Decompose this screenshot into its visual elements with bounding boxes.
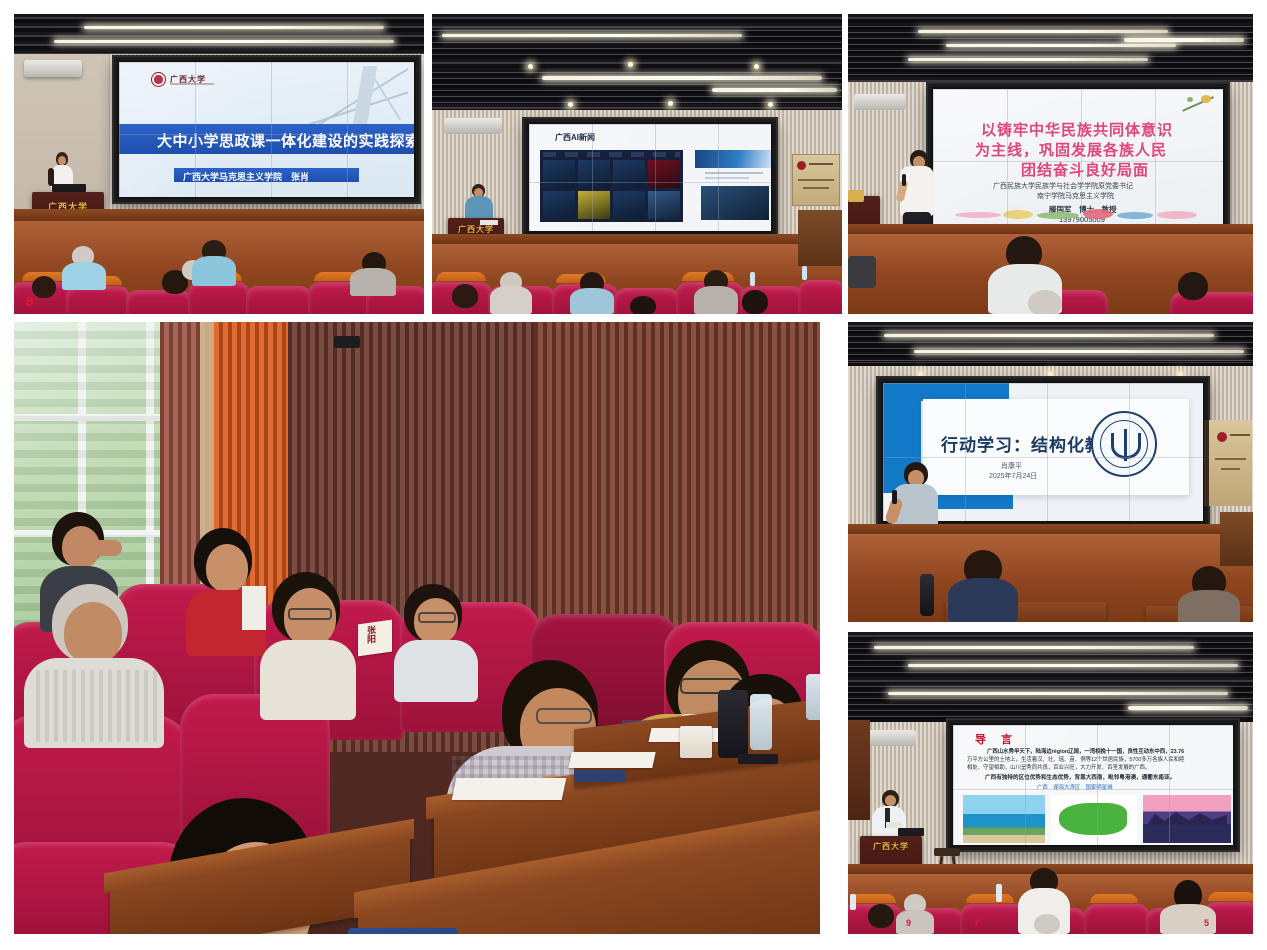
slide6-body-4: 广西有独特的区位优势和生态优势，背靠大西南，毗邻粤港澳，通衢东南亚。 bbox=[985, 773, 1175, 781]
photo-guangxi-intro-slide: 导 言 广西山水秀甲天下，陆海边région辽阔，一湾相挽十一国，良性互动东中西… bbox=[848, 632, 1253, 934]
wall-plaque bbox=[1204, 420, 1252, 506]
air-conditioner bbox=[444, 118, 502, 134]
slide1-title: 大中小学思政课一体化建设的实践探索 bbox=[157, 130, 414, 151]
led-video-wall: 广西大学 大中小学思政课一体化建设的实践探索 广西大学马克思主义学院 张肖 bbox=[114, 57, 419, 202]
institute-seal-logo-icon bbox=[1091, 411, 1157, 477]
water-bottle bbox=[802, 266, 807, 280]
slide6-body-1: 广西山水秀甲天下，陆海边région辽阔，一湾相挽十一国，良性互动东中西，23.… bbox=[987, 747, 1184, 755]
name-card bbox=[886, 822, 902, 828]
pen bbox=[738, 754, 778, 764]
slide6-body-3: 相处、守望相助，山川呈秀而共良，百业兴旺，大力开发、百坚发展的广西。 bbox=[967, 763, 1150, 771]
led-video-wall: 以铸牢中华民族共同体意识 为主线，巩固发展各族人民 团结奋斗良好局面 广西民族大… bbox=[928, 84, 1228, 229]
laptop bbox=[898, 828, 924, 836]
water-bottle bbox=[850, 894, 856, 910]
seat-number: 8 bbox=[26, 294, 33, 309]
ceiling-speaker bbox=[334, 336, 360, 348]
audience-head bbox=[1028, 290, 1062, 314]
slide3-title-line1: 以铸牢中华民族共同体意识 bbox=[981, 119, 1173, 140]
thermos bbox=[718, 690, 748, 758]
wall-plaque bbox=[792, 154, 840, 206]
slide2-banner bbox=[695, 150, 771, 168]
name-card bbox=[480, 220, 498, 225]
eyeglasses bbox=[418, 612, 456, 623]
air-conditioner bbox=[854, 94, 906, 110]
podium-text: 广西大学 bbox=[451, 224, 500, 235]
paper-cup bbox=[680, 726, 712, 758]
laptop bbox=[52, 184, 86, 192]
water-bottle bbox=[806, 674, 820, 720]
water-bottle bbox=[750, 272, 755, 286]
podium-text: 广西大学 bbox=[864, 841, 919, 852]
slide5-date: 2025年7月24日 bbox=[989, 471, 1037, 481]
led-video-wall: 导 言 广西山水秀甲天下，陆海边région辽阔，一湾相挽十一国，良性互动东中西… bbox=[948, 720, 1238, 850]
audience-head bbox=[742, 290, 768, 314]
audience-head bbox=[32, 276, 56, 298]
eyeglasses bbox=[536, 708, 592, 724]
seat-number: 9 bbox=[906, 918, 911, 928]
photo-audience-taking-notes: 张阳 bbox=[14, 322, 820, 934]
led-video-wall: 广西AI新闻 bbox=[524, 119, 776, 236]
university-logo-icon bbox=[151, 72, 166, 87]
slide6-image-map bbox=[1051, 795, 1137, 843]
slide3-affiliation-1: 广西民族大学民族学与社会学学院原党委书记 bbox=[993, 181, 1133, 191]
paper bbox=[452, 778, 567, 800]
hand bbox=[92, 540, 122, 556]
paper bbox=[568, 752, 655, 768]
audience-head bbox=[868, 904, 894, 928]
flower-vase bbox=[848, 190, 864, 202]
seat-number: 7 bbox=[974, 918, 979, 928]
attendee bbox=[186, 528, 268, 656]
audience-head bbox=[1178, 272, 1208, 300]
stool bbox=[934, 848, 960, 856]
notebook bbox=[574, 770, 626, 782]
photo-collage: 广西大学 大中小学思政课一体化建设的实践探索 广西大学马克思主义学院 张肖 广西… bbox=[0, 0, 1267, 950]
fan bbox=[848, 256, 876, 288]
audience-head bbox=[1034, 914, 1060, 934]
air-conditioner bbox=[24, 60, 82, 77]
slide6-caption: 广西 湖海大湾区 国家明星城 bbox=[1037, 783, 1112, 791]
water-bottle bbox=[750, 694, 772, 750]
slide6-image-karst bbox=[1143, 795, 1231, 843]
slide2-title: 广西AI新闻 bbox=[555, 132, 595, 143]
slide3-affiliation-2: 南宁学院马克思主义学院 bbox=[1037, 191, 1114, 201]
slide2-photo bbox=[701, 186, 769, 220]
slide3-title-line3: 团结奋斗良好局面 bbox=[1021, 159, 1149, 180]
photo-ai-news-slide: 广西AI新闻 bbox=[432, 14, 842, 314]
audience-head bbox=[452, 284, 478, 308]
thermos bbox=[920, 574, 934, 616]
conference-bag: 广西大学 bbox=[348, 928, 458, 934]
water-bottle bbox=[996, 884, 1002, 902]
attendee bbox=[262, 572, 356, 720]
slide6-image-seaside bbox=[963, 795, 1045, 843]
slide3-title-line2: 为主线，巩固发展各族人民 bbox=[975, 139, 1167, 160]
audience-head bbox=[630, 296, 656, 314]
seat-number: 5 bbox=[1204, 918, 1209, 928]
slide6-heading: 导 言 bbox=[975, 731, 1014, 747]
eyeglasses bbox=[288, 608, 332, 620]
microphone bbox=[892, 490, 897, 504]
attendee bbox=[32, 584, 162, 744]
microphone bbox=[902, 174, 906, 186]
photo-action-learning-slide: 行动学习：结构化教学 肖康平 2025年7月24日 bbox=[848, 322, 1253, 622]
slide6-body-2: 万平方公里的土地上，生活着汉、壮、瑶、苗、侗等12个世居民族，5700多万各族人… bbox=[967, 755, 1184, 763]
photo-ethnic-unity-slide: 以铸牢中华民族共同体意识 为主线，巩固发展各族人民 团结奋斗良好局面 广西民族大… bbox=[848, 14, 1253, 314]
name-card: 张阳 bbox=[358, 620, 392, 657]
slide1-subtitle: 广西大学马克思主义学院 张肖 bbox=[183, 170, 309, 183]
photo-lecture-title-slide: 广西大学 大中小学思政课一体化建设的实践探索 广西大学马克思主义学院 张肖 广西… bbox=[14, 14, 424, 314]
slide5-presenter: 肖康平 bbox=[1001, 461, 1022, 471]
